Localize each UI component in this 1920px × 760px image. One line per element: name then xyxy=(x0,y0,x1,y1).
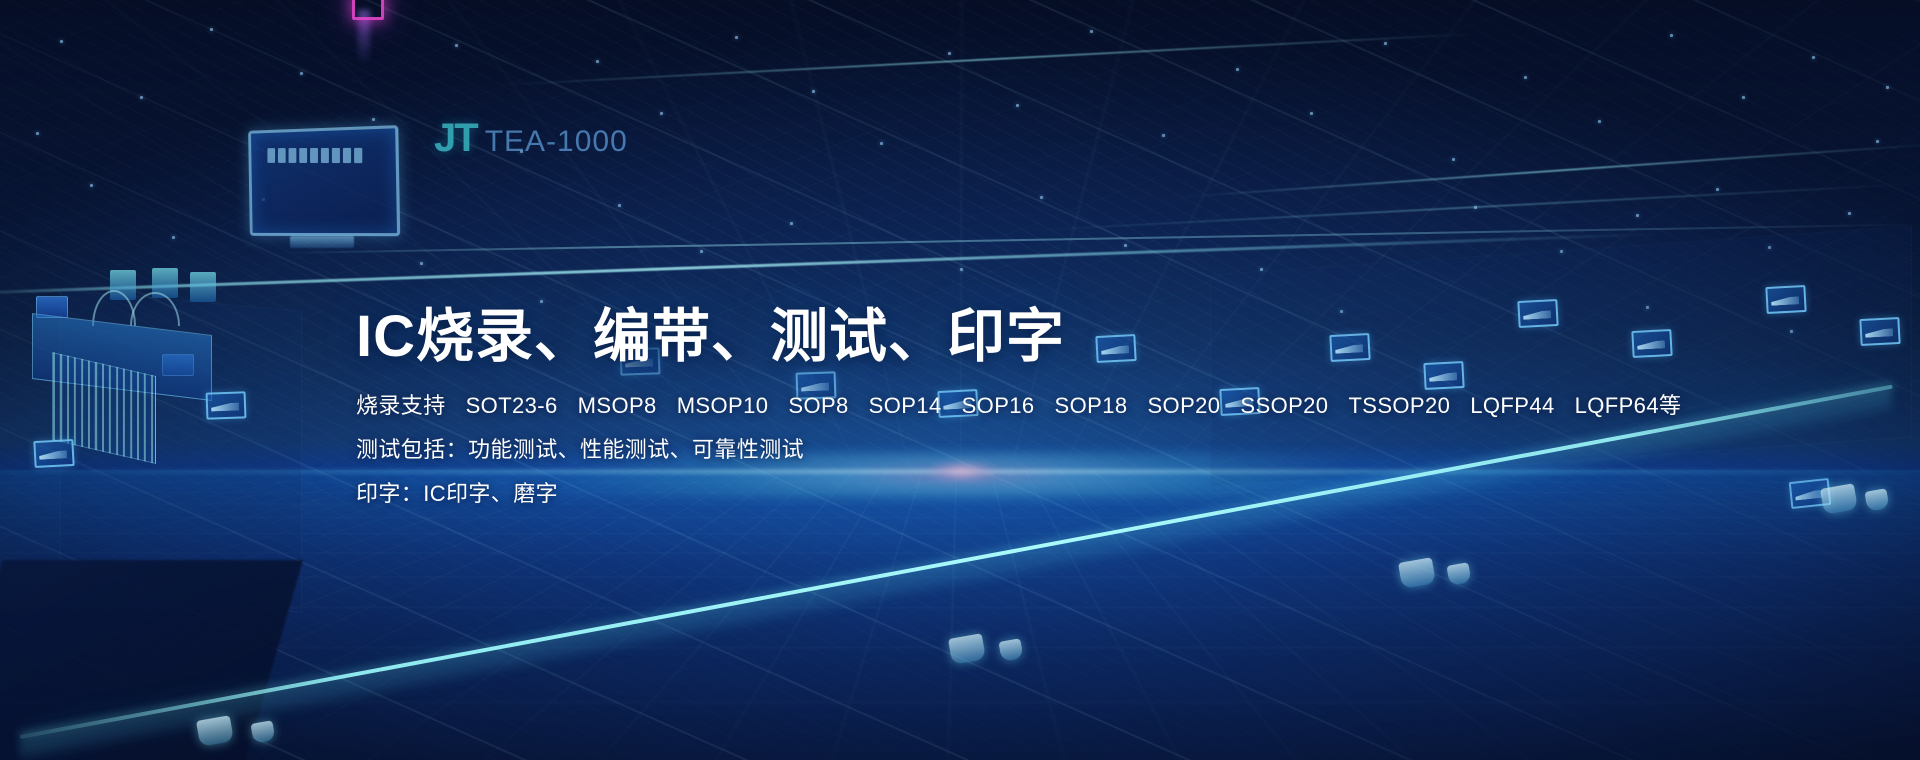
brand-watermark: JT TEA-1000 xyxy=(434,118,628,158)
package-label: SOP8 xyxy=(788,393,848,418)
package-label: SSOP20 xyxy=(1240,393,1328,418)
packages-line: 烧录支持SOT23-6MSOP8MSOP10SOP8SOP14SOP16SOP1… xyxy=(356,395,1606,417)
banner-sublines: 烧录支持SOT23-6MSOP8MSOP10SOP8SOP14SOP16SOP1… xyxy=(356,395,1606,505)
page-title: IC烧录、编带、测试、印字 xyxy=(356,306,1606,369)
package-label: SOP20 xyxy=(1147,393,1220,418)
monitor-icon xyxy=(246,128,398,236)
machine-pod-3 xyxy=(190,272,216,302)
brand-mark: JT xyxy=(434,118,477,158)
package-label: LQFP64等 xyxy=(1575,393,1682,418)
industrial-machine-icon xyxy=(14,268,228,468)
monitor-screen xyxy=(248,125,400,236)
package-list: SOT23-6MSOP8MSOP10SOP8SOP14SOP16SOP18SOP… xyxy=(466,393,1682,418)
chip-tray-icon xyxy=(33,439,74,468)
testing-line: 测试包括：功能测试、性能测试、可靠性测试 xyxy=(356,439,1606,461)
ic-service-banner: JT TEA-1000 IC烧录、编带、测试、印字 烧录支持SOT23-6MSO… xyxy=(0,0,1920,760)
package-label: MSOP8 xyxy=(578,393,657,418)
package-label: SOP14 xyxy=(869,393,942,418)
package-label: SOT23-6 xyxy=(466,393,558,418)
package-label: MSOP10 xyxy=(677,393,769,418)
package-label: SOP18 xyxy=(1055,393,1128,418)
package-label: LQFP44 xyxy=(1470,393,1554,418)
chip-tray-icon xyxy=(1631,329,1672,358)
monitor-stand xyxy=(290,236,354,248)
monitor-chip-row xyxy=(267,148,362,163)
chip-tray-icon xyxy=(206,391,247,419)
printing-line: 印字：IC印字、磨字 xyxy=(356,483,1606,505)
package-label: SOP16 xyxy=(962,393,1035,418)
magenta-indicator-icon xyxy=(352,0,384,20)
brand-model: TEA-1000 xyxy=(485,127,628,157)
chip-tray-icon xyxy=(1859,317,1900,346)
banner-content: IC烧录、编带、测试、印字 烧录支持SOT23-6MSOP8MSOP10SOP8… xyxy=(356,306,1606,505)
chip-tray-icon xyxy=(1765,285,1806,314)
package-label: TSSOP20 xyxy=(1348,393,1450,418)
packages-line-prefix: 烧录支持 xyxy=(356,393,446,418)
